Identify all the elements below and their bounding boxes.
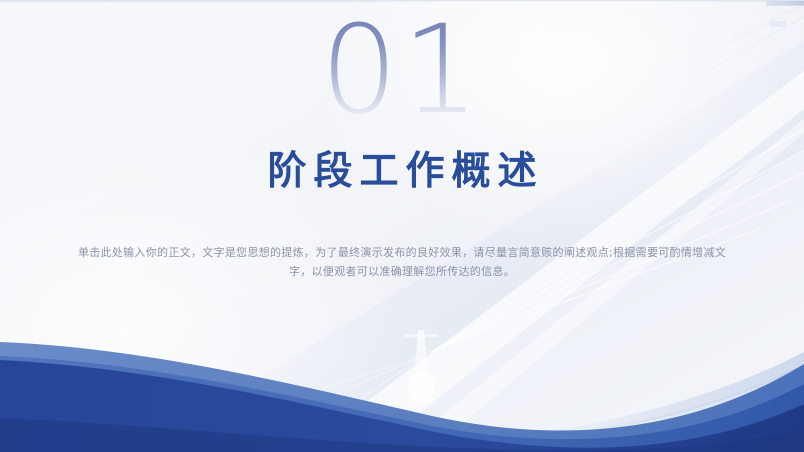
- slide-canvas: 01 阶段工作概述 单击此处输入你的正文，文字是您思想的提炼，为了最终演示发布的…: [0, 0, 804, 452]
- body-paragraph: 单击此处输入你的正文，文字是您思想的提炼，为了最终演示发布的良好效果，请尽量言简…: [72, 243, 732, 281]
- page-title: 阶段工作概述: [0, 149, 804, 195]
- section-number: 01: [0, 9, 804, 131]
- bottom-wave-graphic: [0, 322, 804, 452]
- corner-accent-mark: [768, 1, 804, 5]
